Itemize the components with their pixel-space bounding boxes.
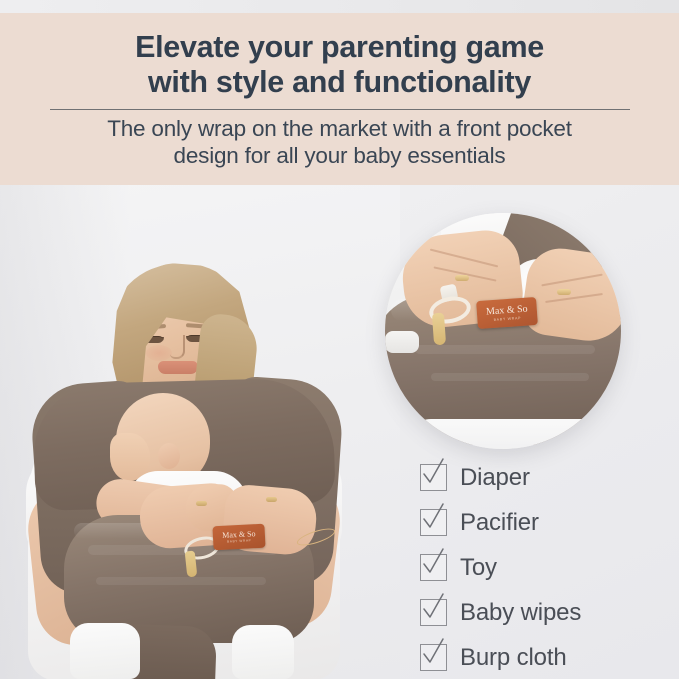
checklist-item-label: Toy [460,555,497,581]
ring-icon [557,289,571,295]
inset-pacifier-teat [432,313,446,346]
checklist-item-label: Pacifier [460,510,539,536]
mother-lips [158,361,198,374]
headline-line-2: with style and functionality [30,65,650,100]
main-product-photo: Max & So BABY WRAP [0,185,400,679]
inset-hand-right [519,244,621,346]
header-divider [50,109,630,110]
ring-icon [196,501,207,506]
subhead-line-1: The only wrap on the market with a front… [35,116,645,143]
top-edge-strip [0,0,679,13]
header-banner: Elevate your parenting game with style a… [0,13,679,185]
baby-ear [158,443,180,469]
wrap-fold-2 [96,577,266,585]
checklist-item[interactable]: Toy [420,547,672,588]
inset-wrap-fold-1 [415,345,595,354]
checklist-item-label: Diaper [460,465,530,491]
brand-tag: Max & So BABY WRAP [212,524,265,551]
checked-box-icon[interactable] [420,644,447,671]
checklist-item[interactable]: Burp cloth [420,637,672,678]
checked-box-icon[interactable] [420,509,447,536]
inset-strap [385,331,419,353]
product-infographic: Elevate your parenting game with style a… [0,0,679,679]
page-subtitle: The only wrap on the market with a front… [35,116,645,169]
checklist-item[interactable]: Pacifier [420,502,672,543]
checklist-item-label: Burp cloth [460,645,567,671]
checklist-item-label: Baby wipes [460,600,581,626]
photo-stage: Max & So BABY WRAP [0,185,679,679]
ring-icon [266,497,277,502]
checked-box-icon[interactable] [420,464,447,491]
inset-brand-tag: Max & So BABY WRAP [476,297,538,329]
checklist-item[interactable]: Baby wipes [420,592,672,633]
essentials-checklist: Diaper Pacifier Toy [420,457,672,679]
page-title: Elevate your parenting game with style a… [30,30,650,100]
brand-tag-subtitle: BABY WRAP [227,538,252,544]
checked-box-icon[interactable] [420,599,447,626]
inset-brand-tag-subtitle: BABY WRAP [493,315,521,323]
checked-box-icon[interactable] [420,554,447,581]
baby-leg-right [232,625,294,679]
mother-cheek [146,345,172,361]
ring-icon [455,275,469,281]
inset-lower-garment [405,419,615,449]
mother-nose [170,335,185,359]
checklist-item[interactable]: Diaper [420,457,672,498]
inset-wrap-fold-2 [431,373,589,381]
baby-leg-left [70,623,140,679]
subhead-line-2: design for all your baby essentials [35,143,645,170]
inset-detail-photo: Max & So BABY WRAP [385,213,621,449]
headline-line-1: Elevate your parenting game [30,30,650,65]
